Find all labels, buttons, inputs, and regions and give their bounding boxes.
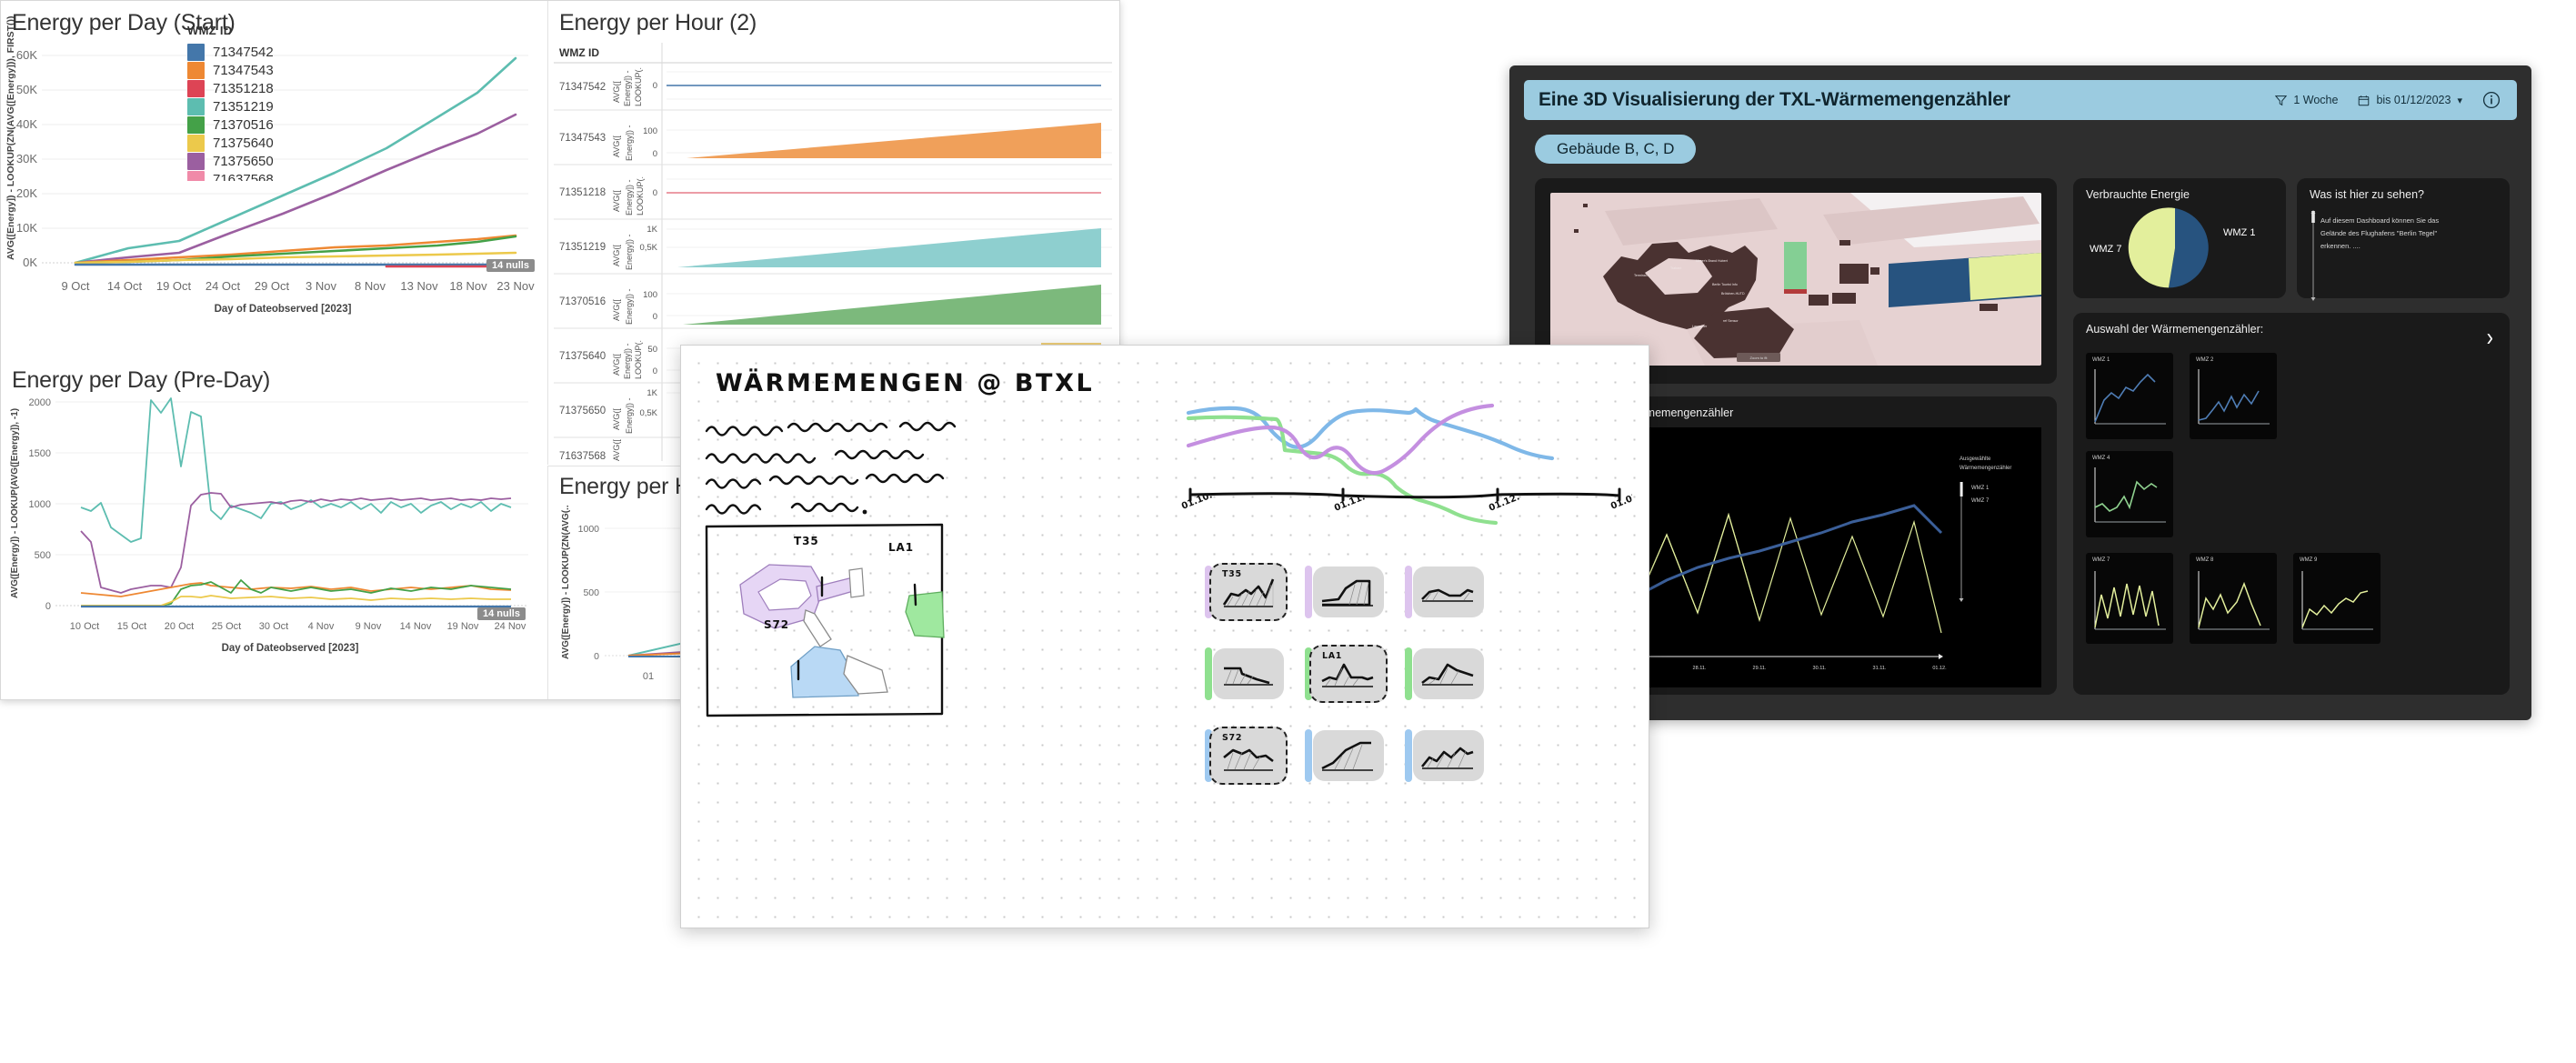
svg-text:0: 0 — [653, 149, 657, 159]
legend-label: 71370516 — [213, 117, 274, 133]
pie-label-wmz1: WMZ 1 — [2223, 227, 2255, 238]
svg-text:500: 500 — [583, 587, 599, 598]
thumb-label: WMZ 8 — [2196, 557, 2213, 563]
svg-text:AVG([: AVG([ — [612, 135, 621, 157]
svg-text:24 Oct: 24 Oct — [205, 279, 241, 293]
svg-text:AVG([: AVG([ — [612, 299, 621, 321]
svg-text:15 Oct: 15 Oct — [117, 621, 146, 632]
pie-card-title: Verbrauchte Energie — [2086, 188, 2190, 201]
svg-text:1K: 1K — [647, 388, 657, 398]
legend-label: 71351219 — [213, 99, 274, 115]
scroll-indicator[interactable] — [2310, 209, 2317, 302]
svg-text:Brötchen-HUTD: Brötchen-HUTD — [1721, 292, 1745, 296]
svg-text:2000: 2000 — [29, 397, 51, 408]
thumb-color-bar — [1405, 647, 1412, 700]
sketch-label-t35: T35 — [794, 535, 819, 547]
legend-swatch — [187, 62, 205, 79]
svg-text:24 Nov: 24 Nov — [495, 621, 526, 632]
legend-item[interactable]: 71347542 — [187, 43, 274, 61]
svg-text:9 Nov: 9 Nov — [356, 621, 382, 632]
legend-swatch — [187, 135, 205, 152]
svg-text:1000: 1000 — [578, 524, 600, 535]
legend-swatch — [187, 44, 205, 61]
svg-text:AVG([Energy]) - LOOKUP(ZN(AVG(: AVG([Energy]) - LOOKUP(ZN(AVG(.. — [561, 505, 571, 659]
dashboard-window: Eine 3D Visualisierung der TXL-Wärmemeng… — [1509, 65, 2531, 720]
dashboard-title: Eine 3D Visualisierung der TXL-Wärmemeng… — [1539, 89, 2275, 111]
svg-text:71351218: 71351218 — [559, 187, 606, 198]
chevron-down-icon: ▾ — [2457, 95, 2462, 106]
info-card-text: Auf diesem Dashboard können Sie das Gelä… — [2320, 215, 2457, 253]
svg-text:50K: 50K — [16, 83, 37, 96]
thumb-wmz-1[interactable]: WMZ 1 — [2086, 353, 2173, 439]
building-filter-label: Gebäude B, C, D — [1557, 140, 1674, 158]
svg-text:10K: 10K — [16, 221, 37, 235]
svg-text:13 Nov: 13 Nov — [400, 279, 438, 293]
svg-text:500: 500 — [35, 550, 51, 561]
svg-text:Energy]) -: Energy]) - — [625, 234, 634, 270]
thumb-sparkline — [1313, 567, 1384, 617]
legend-item[interactable]: 71351218 — [187, 79, 274, 97]
thumb-sparkline — [2086, 451, 2173, 537]
sketch-label-s72: S72 — [764, 618, 789, 631]
panel-title-energy-per-day-preday: Energy per Day (Pre-Day) — [12, 367, 270, 394]
svg-text:0,5K: 0,5K — [639, 243, 657, 253]
selector-card-title: Auswahl der Wärmemengenzähler: — [2086, 323, 2263, 336]
svg-text:31.11.: 31.11. — [1873, 666, 1887, 671]
filter-icon — [2275, 95, 2287, 106]
thumb-label: WMZ 4 — [2092, 456, 2110, 461]
svg-text:0: 0 — [653, 312, 657, 322]
thumb-sparkline — [2293, 553, 2381, 644]
thumb-wmz-7[interactable]: WMZ 7 — [2086, 553, 2173, 644]
svg-text:19 Oct: 19 Oct — [156, 279, 192, 293]
legend-swatch — [187, 98, 205, 115]
svg-text:40K: 40K — [16, 117, 37, 131]
date-label: bis 01/12/2023 — [2376, 94, 2451, 106]
thumb-sparkline — [2086, 353, 2173, 439]
chevron-right-icon[interactable]: › — [2487, 325, 2493, 350]
svg-text:AVG([: AVG([ — [612, 245, 621, 266]
thumb-sparkline — [1313, 730, 1384, 781]
legend-item[interactable]: 71375640 — [187, 134, 274, 152]
svg-text:10 Oct: 10 Oct — [70, 621, 99, 632]
svg-text:71347543: 71347543 — [559, 133, 606, 144]
thumb-wmz-8[interactable]: WMZ 8 — [2190, 553, 2277, 644]
svg-text:100: 100 — [643, 290, 657, 300]
legend-label: 71375650 — [213, 154, 274, 169]
info-card: Was ist hier zu sehen? Auf diesem Dashbo… — [2297, 178, 2510, 298]
filter-label: 1 Woche — [2293, 94, 2338, 106]
sketch-window: WÄRMEMENGEN @ BTXL — [680, 345, 1649, 928]
svg-text:71637568: 71637568 — [559, 451, 606, 461]
svg-text:Energy]) -: Energy]) - — [625, 288, 634, 325]
svg-text:Zoom to fit: Zoom to fit — [1750, 356, 1769, 360]
svg-text:100: 100 — [643, 126, 657, 136]
info-icon — [2482, 91, 2501, 109]
chart-energy-per-day-start: 60K50K 40K30K 20K10K 0K AVG([Energy]) - … — [1, 1, 546, 360]
svg-text:20 Oct: 20 Oct — [165, 621, 194, 632]
svg-text:23 Nov: 23 Nov — [496, 279, 535, 293]
svg-text:Energy]) -: Energy]) - — [625, 125, 634, 161]
dashboard-header: Eine 3D Visualisierung der TXL-Wärmemeng… — [1524, 80, 2517, 120]
svg-text:AVG([: AVG([ — [612, 439, 621, 461]
svg-text:LOOKUP(.: LOOKUP(. — [634, 67, 643, 106]
svg-text:LOOKUP(.: LOOKUP(. — [634, 340, 643, 379]
panel-energy-per-day-start: Energy per Day (Start) 60K50K 40K30K 20K… — [1, 1, 546, 360]
sketch-placeholder-text — [703, 416, 967, 535]
svg-text:29 Oct: 29 Oct — [255, 279, 290, 293]
svg-text:20K: 20K — [16, 186, 37, 200]
svg-text:WMZ 1: WMZ 1 — [1971, 486, 1990, 491]
svg-text:60K: 60K — [16, 48, 37, 62]
svg-text:0: 0 — [653, 81, 657, 91]
svg-text:4 Nov: 4 Nov — [308, 621, 335, 632]
svg-text:AVG([Energy]) - LOOKUP(ZN(AVG(: AVG([Energy]) - LOOKUP(ZN(AVG([Energy]))… — [5, 15, 16, 260]
sketch-title: WÄRMEMENGEN @ BTXL — [716, 369, 1094, 397]
svg-text:8 Nov: 8 Nov — [355, 279, 386, 293]
svg-text:71351219: 71351219 — [559, 242, 606, 253]
svg-text:1000: 1000 — [29, 499, 51, 510]
svg-text:Ausgewählte: Ausgewählte — [1960, 456, 1991, 462]
panel-energy-per-day-preday: Energy per Day (Pre-Day) 20001500 100050… — [1, 360, 546, 700]
svg-text:WMZ 7: WMZ 7 — [1971, 498, 1990, 504]
svg-text:0,5K: 0,5K — [639, 408, 657, 418]
svg-text:0: 0 — [653, 188, 657, 198]
info-card-title: Was ist hier zu sehen? — [2310, 188, 2424, 201]
thumb-label: S72 — [1222, 733, 1242, 743]
svg-text:AVG([: AVG([ — [612, 354, 621, 376]
svg-text:Meyer's Brand Hubert: Meyer's Brand Hubert — [1696, 259, 1728, 263]
legend-item[interactable]: 71375650 — [187, 152, 274, 170]
thumb-label: WMZ 9 — [2300, 557, 2317, 563]
nulls-badge: 14 nulls — [486, 259, 535, 272]
svg-text:AVG([: AVG([ — [612, 81, 621, 103]
legend-item[interactable]: 71351219 — [187, 97, 274, 115]
sketch-xtick: 01.01. — [1609, 490, 1632, 511]
sketch-line-chart[interactable]: 01.10. 01.11. 01.12. 01.01. — [1178, 375, 1632, 543]
pie-card: Verbrauchte Energie WMZ 1 WMZ 7 — [2073, 178, 2286, 298]
panel-title-energy-per-hour-2: Energy per Hour (2) — [559, 10, 757, 36]
svg-text:Terminal A: Terminal A — [1634, 274, 1649, 277]
svg-text:25 Oct: 25 Oct — [212, 621, 241, 632]
svg-text:Energy]) -: Energy]) - — [625, 397, 634, 434]
svg-text:18 Nov: 18 Nov — [449, 279, 487, 293]
svg-text:19 Nov: 19 Nov — [447, 621, 479, 632]
sketch-label-la1: LA1 — [888, 541, 914, 554]
legend-label: 71351218 — [213, 81, 274, 96]
legend-swatch — [187, 116, 205, 134]
svg-text:28.11.: 28.11. — [1693, 666, 1707, 671]
svg-text:3 Nov: 3 Nov — [306, 279, 336, 293]
svg-text:1K: 1K — [647, 225, 657, 235]
svg-text:Trabant: Trabant — [1670, 266, 1681, 270]
thumb-sparkline — [1413, 567, 1484, 617]
svg-text:71347542: 71347542 — [559, 82, 606, 93]
filter-control[interactable]: 1 Woche — [2275, 94, 2338, 106]
selector-card: Auswahl der Wärmemengenzähler: › WMZ 1 W… — [2073, 313, 2510, 695]
thumb-color-bar — [1205, 647, 1212, 700]
svg-text:50: 50 — [647, 345, 657, 355]
thumb-label: WMZ 7 — [2092, 557, 2110, 563]
svg-text:01: 01 — [643, 671, 654, 682]
svg-text:LOOKUP(.: LOOKUP(. — [636, 176, 645, 216]
thumb-color-bar — [1305, 566, 1312, 618]
svg-text:Wärmemengenzähler: Wärmemengenzähler — [1960, 466, 2011, 471]
legend-label: 71347543 — [213, 63, 274, 78]
legend-item[interactable]: 71637568 — [187, 170, 274, 181]
thumb-label: LA1 — [1322, 651, 1342, 661]
chart-energy-per-day-preday: 20001500 10005000 AVG([Energy]) - LOOKUP… — [1, 360, 546, 669]
svg-text:Lapanther: Lapanther — [1692, 325, 1708, 328]
svg-text:1500: 1500 — [29, 448, 51, 459]
legend-swatch — [187, 80, 205, 97]
legend-item[interactable]: 71347543 — [187, 61, 274, 79]
legend-item[interactable]: 71370516 — [187, 115, 274, 134]
legend-label: 71375640 — [213, 135, 274, 151]
thumb-sparkline — [1413, 648, 1484, 699]
date-control[interactable]: bis 01/12/2023 ▾ — [2358, 94, 2462, 106]
svg-text:AVG([: AVG([ — [612, 408, 621, 430]
thumb-sparkline — [2190, 353, 2277, 439]
thumb-color-bar — [1405, 729, 1412, 782]
svg-text:0: 0 — [594, 651, 599, 662]
thumb-wmz-9[interactable]: WMZ 9 — [2293, 553, 2381, 644]
legend-title: WMZ ID — [187, 24, 274, 37]
legend-swatch — [187, 171, 205, 182]
svg-text:71375640: 71375640 — [559, 351, 606, 362]
thumb-sparkline — [1413, 730, 1484, 781]
svg-text:30 Oct: 30 Oct — [259, 621, 288, 632]
building-filter-chip[interactable]: Gebäude B, C, D — [1535, 135, 1696, 164]
svg-text:0: 0 — [45, 601, 51, 612]
thumb-wmz-4[interactable]: WMZ 4 — [2086, 451, 2173, 537]
svg-text:01.12.: 01.12. — [1932, 666, 1947, 671]
svg-text:14 Nov: 14 Nov — [400, 621, 432, 632]
thumb-label: WMZ 1 — [2092, 357, 2110, 363]
thumb-label: T35 — [1222, 569, 1242, 579]
thumb-sparkline — [2086, 553, 2173, 644]
svg-text:30K: 30K — [16, 152, 37, 165]
thumb-wmz-2[interactable]: WMZ 2 — [2190, 353, 2277, 439]
svg-text:71375650: 71375650 — [559, 406, 606, 416]
svg-text:Day of Dateobserved [2023]: Day of Dateobserved [2023] — [215, 304, 352, 315]
legend-swatch — [187, 153, 205, 170]
svg-text:14 Oct: 14 Oct — [107, 279, 143, 293]
svg-text:Energy]) -: Energy]) - — [625, 179, 634, 216]
thumb-sparkline — [1213, 648, 1284, 699]
svg-text:Energy]) -: Energy]) - — [623, 343, 632, 379]
svg-text:29.11.: 29.11. — [1753, 666, 1767, 671]
svg-text:AVG([Energy]) - LOOKUP(AVG([En: AVG([Energy]) - LOOKUP(AVG([Energy]), -1… — [10, 408, 20, 598]
svg-text:Energy]) -: Energy]) - — [623, 70, 632, 106]
thumb-color-bar — [1305, 729, 1312, 782]
svg-text:Day of Dateobserved [2023]: Day of Dateobserved [2023] — [222, 643, 359, 654]
svg-text:71370516: 71370516 — [559, 296, 606, 307]
svg-text:0K: 0K — [23, 256, 37, 269]
svg-text:30.11.: 30.11. — [1813, 666, 1827, 671]
svg-text:0: 0 — [653, 366, 657, 376]
thumb-color-bar — [1405, 566, 1412, 618]
nulls-badge-preday: 14 nulls — [477, 607, 526, 620]
svg-text:AVG([: AVG([ — [612, 190, 621, 212]
legend-wmz-id: WMZ ID 71347542 71347543 71351218 713512… — [187, 24, 274, 181]
info-button[interactable] — [2482, 91, 2501, 109]
svg-text:Berlin Tourist Info: Berlin Tourist Info — [1712, 283, 1738, 286]
legend-label: 71637568 — [213, 172, 274, 182]
thumb-sparkline — [2190, 553, 2277, 644]
legend-label: 71347542 — [213, 45, 274, 60]
thumb-label: WMZ 2 — [2196, 357, 2213, 363]
calendar-icon — [2358, 95, 2370, 106]
map-3d-view[interactable]: Terminal ATrabant Meyer's Brand Hubert B… — [1550, 193, 2041, 366]
svg-text:ref Sensor: ref Sensor — [1723, 319, 1739, 323]
svg-text:9 Oct: 9 Oct — [61, 279, 89, 293]
pie-label-wmz7: WMZ 7 — [2090, 244, 2121, 255]
